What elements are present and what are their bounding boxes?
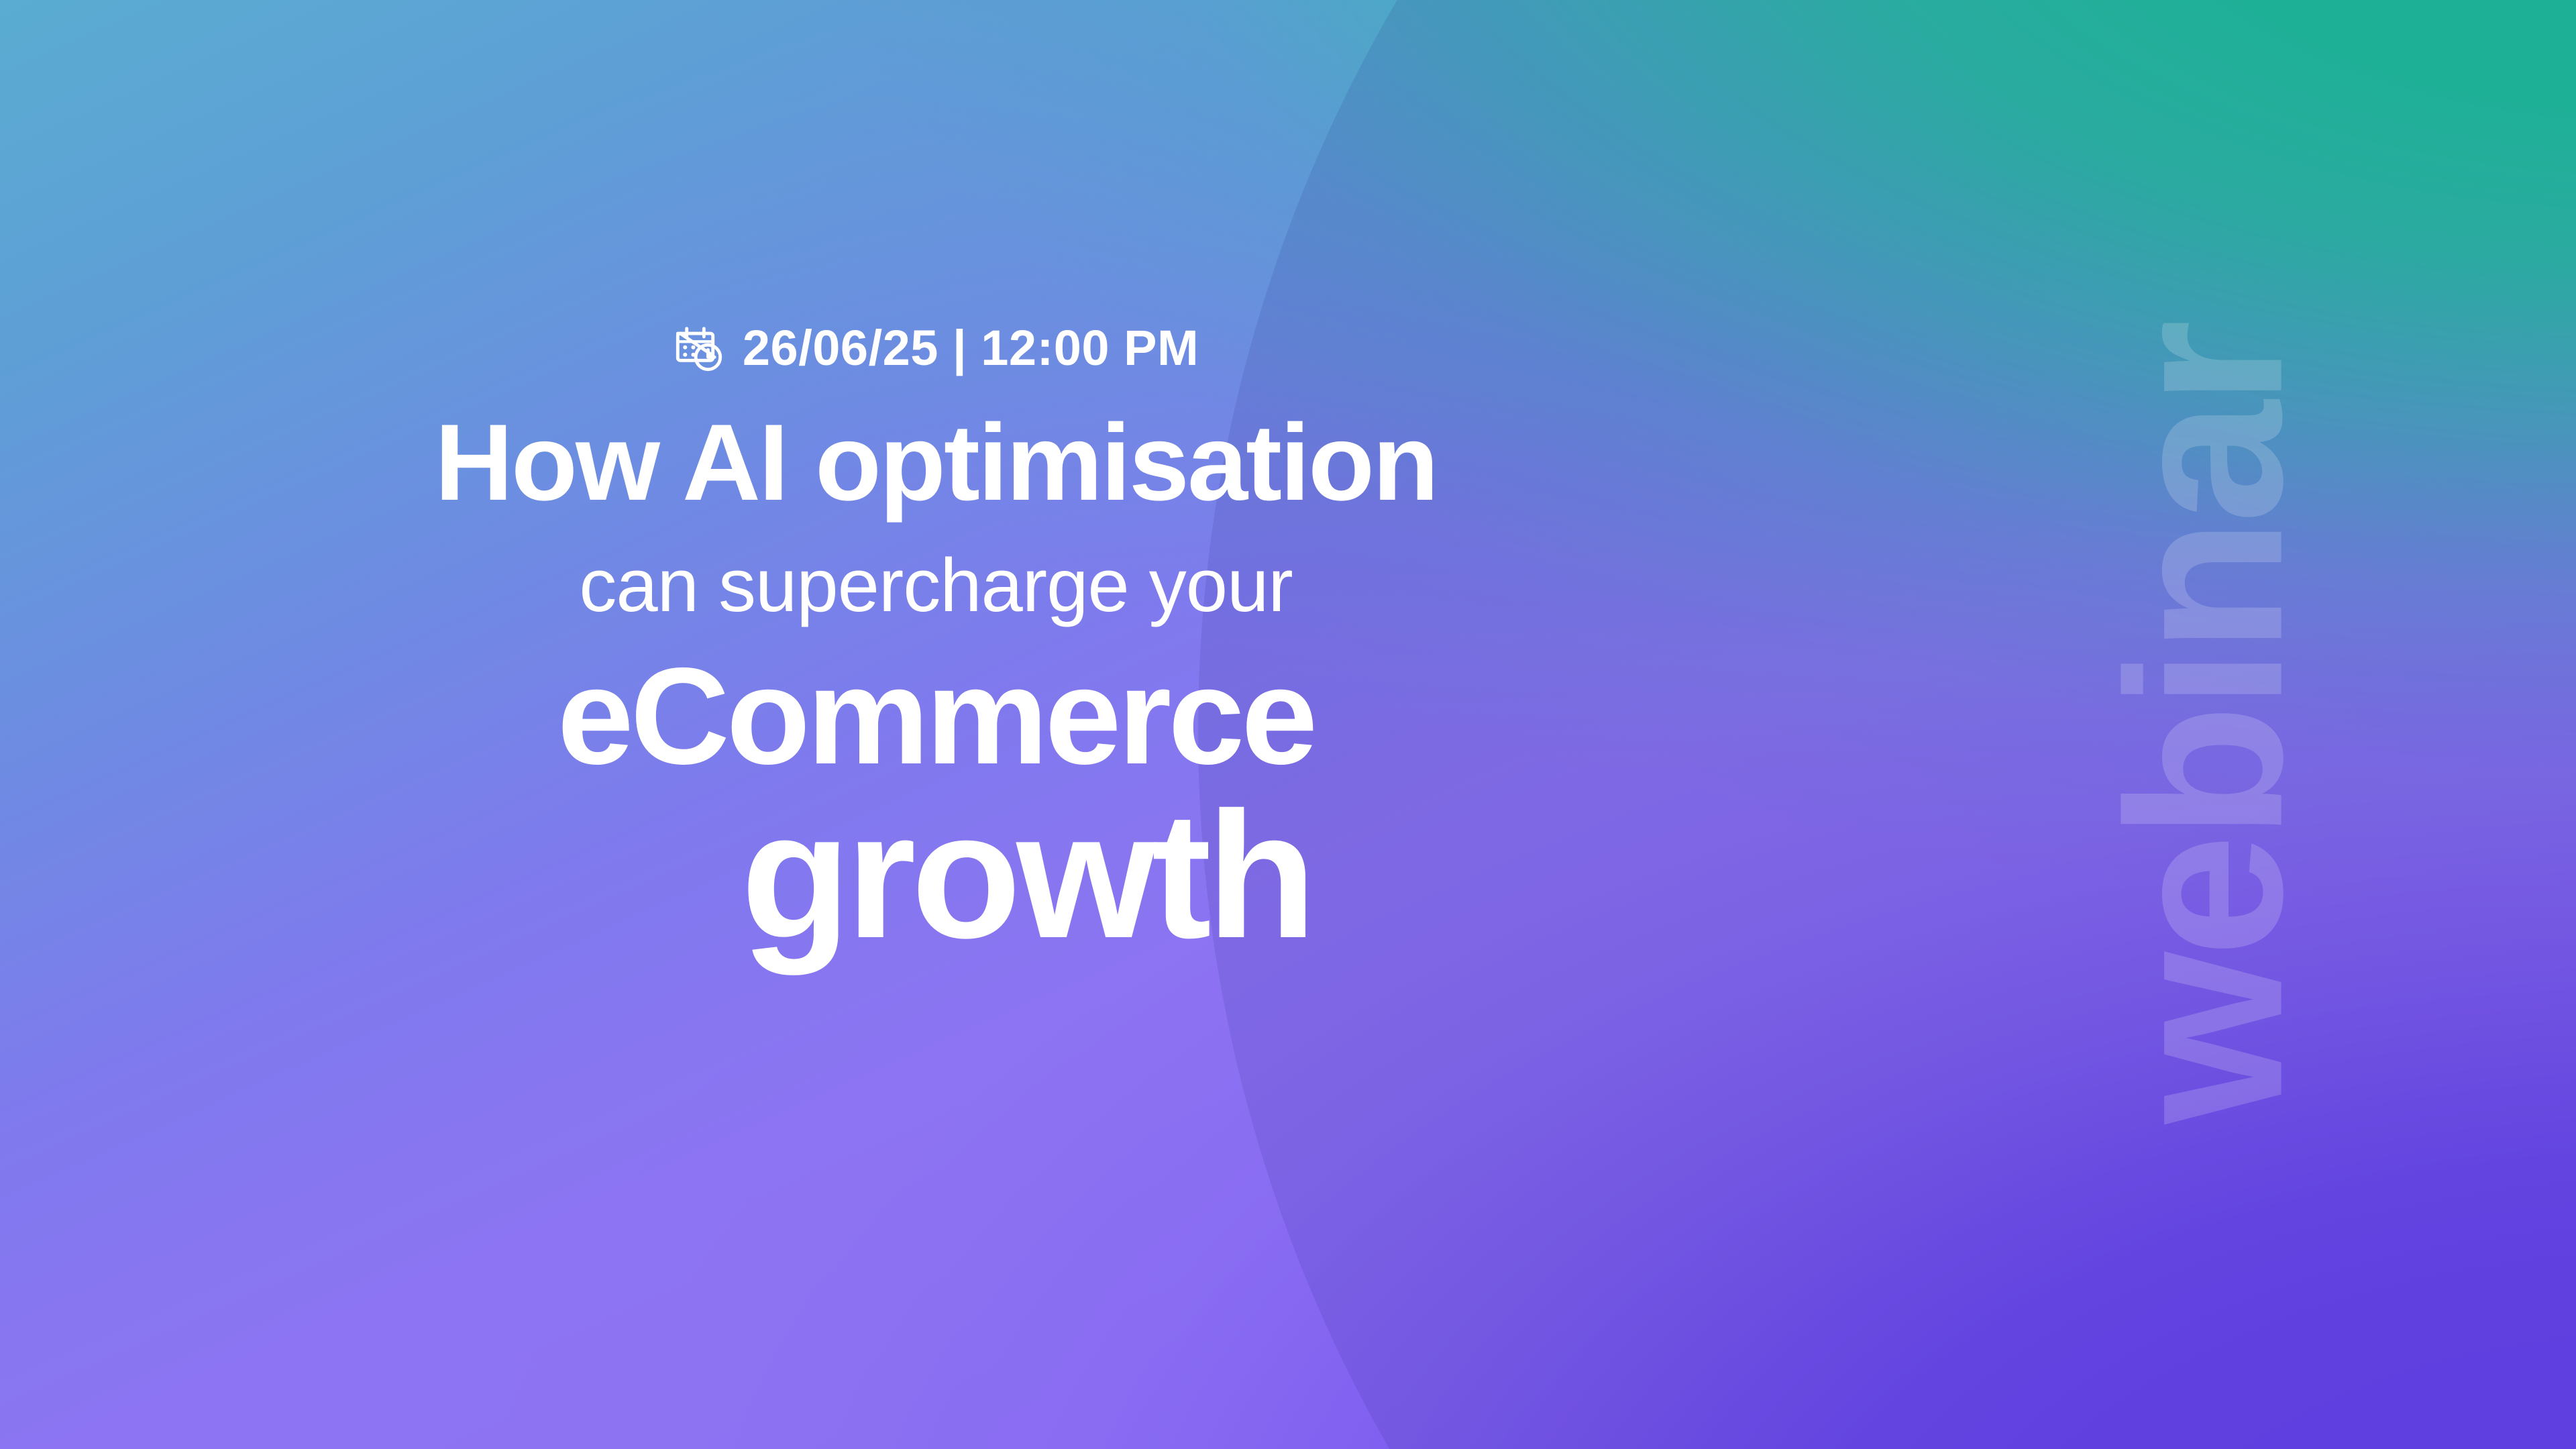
date-time-label: 26/06/25 | 12:00 PM — [743, 323, 1199, 373]
headline-line-2: can supercharge your — [579, 543, 1292, 627]
headline-line-4: growth — [741, 784, 1311, 967]
date-time-row: 26/06/25 | 12:00 PM — [673, 322, 1199, 374]
headline-line-3: eCommerce — [557, 645, 1315, 788]
calendar-clock-icon — [673, 322, 725, 374]
headline-line-1: How AI optimisation — [435, 405, 1437, 521]
webinar-promo-canvas: webinar — [0, 0, 2576, 1449]
webinar-watermark-text: webinar — [2094, 325, 2315, 1124]
content-block: 26/06/25 | 12:00 PM How AI optimisation … — [0, 0, 1872, 1449]
